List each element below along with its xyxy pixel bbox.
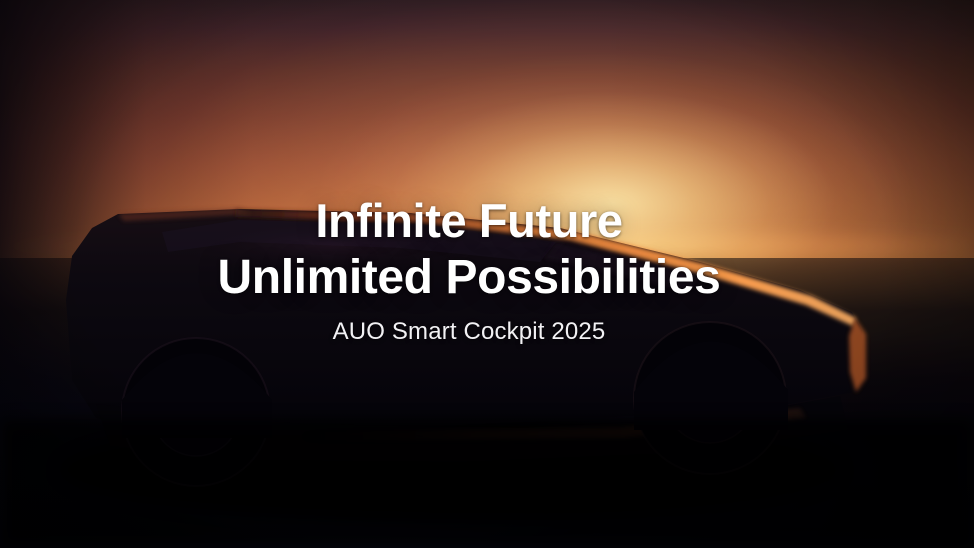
hero-text-block: Infinite Future Unlimited Possibilities … [0, 192, 938, 347]
hero-subtitle: AUO Smart Cockpit 2025 [0, 317, 938, 347]
sun-glow-core [0, 0, 974, 548]
sun-glow-wide [0, 0, 974, 548]
ground-shadow [0, 258, 974, 548]
blue-shadow-cast [0, 0, 974, 548]
headline-line-2: Unlimited Possibilities [0, 249, 938, 306]
headline-line-1: Infinite Future [0, 192, 938, 249]
horizon-band [0, 224, 974, 270]
hero-banner: Infinite Future Unlimited Possibilities … [0, 0, 974, 548]
car-silhouette [0, 0, 974, 548]
vignette-overlay [0, 0, 974, 548]
sky-edge-shading [0, 0, 974, 548]
sky-gradient-background [0, 0, 974, 548]
